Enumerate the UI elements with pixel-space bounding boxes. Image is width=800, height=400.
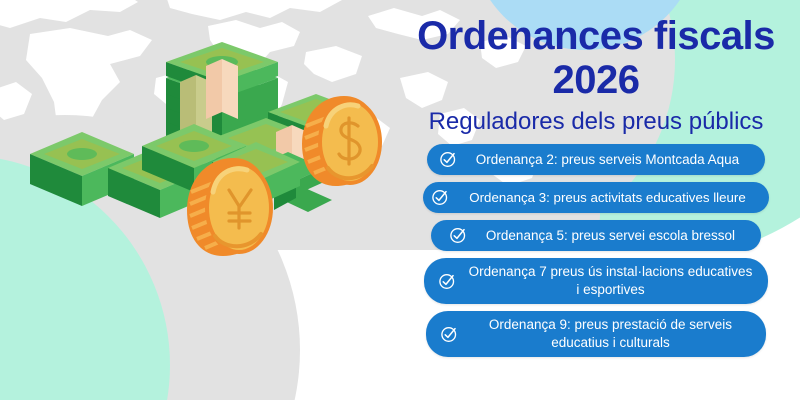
list-item[interactable]: Ordenança 9: preus prestació de serveis … [426,311,766,357]
list-item[interactable]: Ordenança 5: preus servei escola bressol [431,220,761,251]
ordinance-list: Ordenança 2: preus serveis Montcada Aqua… [392,144,800,357]
list-item-label: Ordenança 5: preus servei escola bressol [474,227,747,244]
list-item[interactable]: Ordenança 7 preus ús instal·lacions educ… [424,258,768,304]
list-item-label: Ordenança 3: preus activitats educatives… [456,189,759,206]
page-title: Ordenances fiscals 2026 [417,14,775,102]
list-item[interactable]: Ordenança 2: preus serveis Montcada Aqua [427,144,765,175]
check-circle-icon [439,150,458,169]
money-illustration [18,18,418,298]
poster-canvas: Ordenances fiscals 2026 Reguladores dels… [0,0,800,400]
list-item-label: Ordenança 7 preus ús instal·lacions educ… [467,263,754,299]
check-circle-icon [440,325,459,344]
check-circle-icon [438,272,457,291]
page-subtitle: Reguladores dels preus públics [429,108,764,136]
list-item-label: Ordenança 9: preus prestació de serveis … [469,316,752,352]
check-circle-icon [449,226,468,245]
content-column: Ordenances fiscals 2026 Reguladores dels… [392,0,800,400]
check-circle-icon [431,188,450,207]
list-item-label: Ordenança 2: preus serveis Montcada Aqua [464,151,751,168]
title-line-2: 2026 [417,58,775,102]
title-line-1: Ordenances fiscals [417,14,775,58]
list-item[interactable]: Ordenança 3: preus activitats educatives… [423,182,769,213]
